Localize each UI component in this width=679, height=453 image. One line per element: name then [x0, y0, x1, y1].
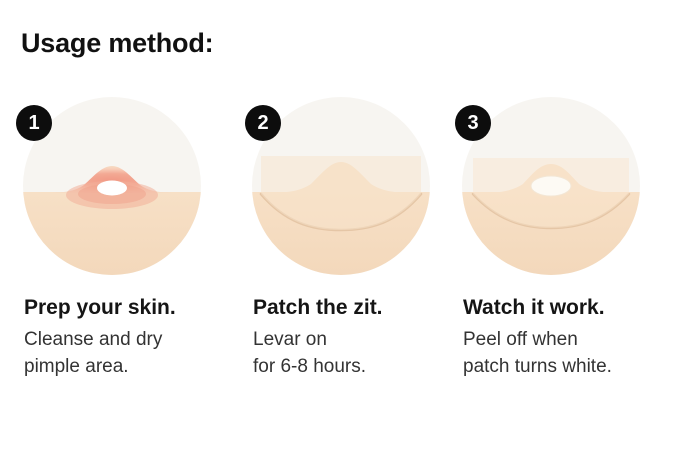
step-caption-1: Prep your skin. Cleanse and dry pimple a… — [24, 296, 239, 381]
steps-row: 1 Prep your skin. Cleanse and dry pimple… — [0, 96, 679, 416]
step-number-badge-1: 1 — [16, 105, 52, 141]
step-item-2: 2 Patch the zit. Levar on for 6-8 hours. — [251, 96, 461, 416]
step-body-1: Cleanse and dry pimple area. — [24, 327, 239, 381]
step-title-3: Watch it work. — [463, 296, 678, 321]
step-illustration-3: 3 — [461, 96, 641, 276]
step-caption-2: Patch the zit. Levar on for 6-8 hours. — [253, 296, 468, 381]
usage-method-infographic: Usage method: — [0, 0, 679, 453]
step-title-2: Patch the zit. — [253, 296, 468, 321]
step-caption-3: Watch it work. Peel off when patch turns… — [463, 296, 678, 381]
step-body-3: Peel off when patch turns white. — [463, 327, 678, 381]
step-item-1: 1 Prep your skin. Cleanse and dry pimple… — [22, 96, 232, 416]
step-item-3: 3 Watch it work. Peel off when patch tur… — [461, 96, 671, 416]
page-title: Usage method: — [21, 29, 213, 59]
step-illustration-1: 1 — [22, 96, 202, 276]
step-title-1: Prep your skin. — [24, 296, 239, 321]
step-number-badge-3: 3 — [455, 105, 491, 141]
step-number-badge-2: 2 — [245, 105, 281, 141]
step-illustration-2: 2 — [251, 96, 431, 276]
step-body-2: Levar on for 6-8 hours. — [253, 327, 468, 381]
